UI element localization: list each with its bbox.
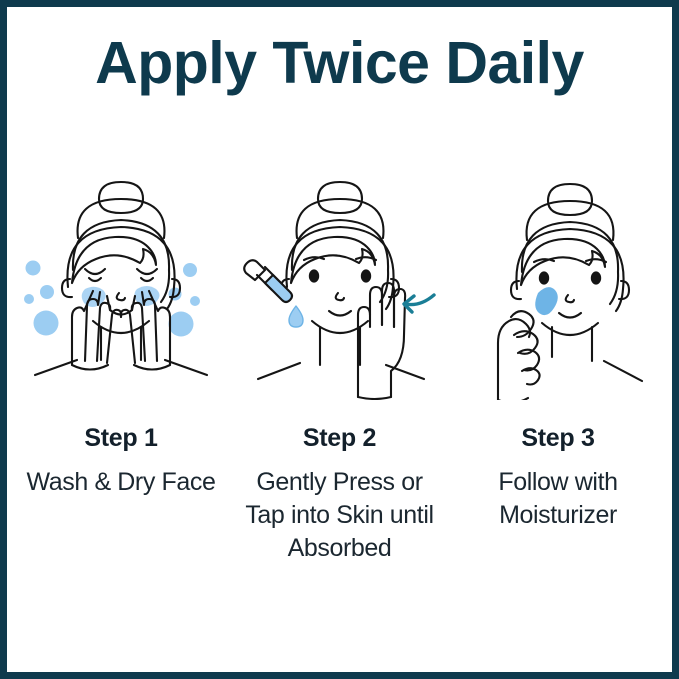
step-label: Step 2	[303, 425, 376, 453]
illustration-apply-serum	[234, 175, 446, 400]
eye-icon	[308, 269, 370, 282]
page-title: Apply Twice Daily	[7, 33, 672, 95]
serum-drop-icon	[289, 306, 303, 327]
step-description: Follow with Moisturizer	[458, 466, 658, 533]
step-label: Step 3	[521, 425, 594, 453]
moisturizer-smear-icon	[535, 287, 558, 315]
step-card-3: Step 3 Follow with Moisturizer	[452, 175, 664, 532]
step-label: Step 1	[84, 425, 157, 453]
bubble-icon	[169, 263, 201, 337]
illustration-wash-face	[15, 175, 227, 400]
step-description: Wash & Dry Face	[27, 466, 216, 499]
closed-eye-icon	[85, 269, 157, 281]
hand-icon	[358, 283, 405, 399]
steps-row: Step 1 Wash & Dry Face	[15, 175, 664, 565]
eye-icon	[539, 271, 601, 284]
illustration-apply-moisturizer	[452, 175, 664, 400]
step-description: Gently Press or Tap into Skin until Abso…	[240, 466, 440, 566]
step-card-1: Step 1 Wash & Dry Face	[15, 175, 227, 499]
hand-icon	[498, 311, 540, 400]
bubble-icon	[24, 261, 59, 336]
foam-icon	[82, 286, 160, 307]
step-card-2: Step 2 Gently Press or Tap into Skin unt…	[234, 175, 446, 565]
curved-arrow-icon	[404, 295, 434, 312]
instruction-poster: Apply Twice Daily	[0, 0, 679, 679]
